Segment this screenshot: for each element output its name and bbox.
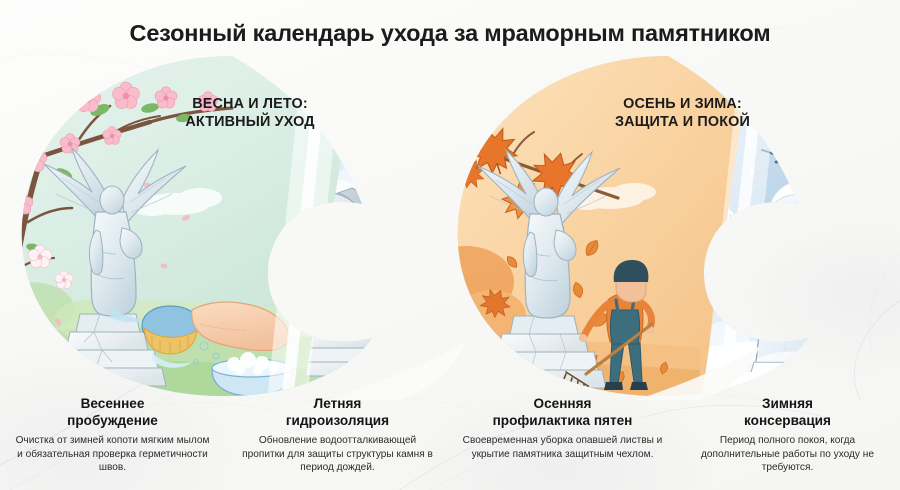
caption-row: Весеннее пробуждение Очистка от зимней к… xyxy=(0,396,900,490)
caption-spring: Весеннее пробуждение Очистка от зимней к… xyxy=(0,396,225,490)
page-title: Сезонный календарь ухода за мраморным па… xyxy=(0,20,900,47)
bare-tree-icon xyxy=(762,76,892,260)
banner-autumn-winter: ОСЕНЬ И ЗИМА: ЗАЩИТА И ПОКОЙ xyxy=(585,96,780,131)
bare-tree-icon xyxy=(830,282,882,348)
caption-autumn: Осенняя профилактика пятен Своевременная… xyxy=(450,396,675,490)
caption-heading: Осенняя профилактика пятен xyxy=(462,396,663,429)
infographic-poster: Сезонный календарь ухода за мраморным па… xyxy=(0,0,900,490)
caption-body: Своевременная уборка опавшей листвы и ук… xyxy=(462,434,663,461)
caption-body: Период полного покоя, когда дополнительн… xyxy=(687,434,888,475)
sun-icon xyxy=(371,118,439,190)
caption-heading: Летняя гидроизоляция xyxy=(237,396,438,429)
banner-spring-summer: ВЕСНА И ЛЕТО: АКТИВНЫЙ УХОД xyxy=(155,96,345,131)
caption-body: Обновление водоотталкивающей пропитки дл… xyxy=(237,434,438,475)
caption-heading: Весеннее пробуждение xyxy=(12,396,213,429)
snow-covered-monument-icon xyxy=(742,180,856,390)
caption-summer: Летняя гидроизоляция Обновление водоотта… xyxy=(225,396,450,490)
caption-winter: Зимняя консервация Период полного покоя,… xyxy=(675,396,900,490)
caption-body: Очистка от зимней копоти мягким мылом и … xyxy=(12,434,213,475)
caption-heading: Зимняя консервация xyxy=(687,396,888,429)
